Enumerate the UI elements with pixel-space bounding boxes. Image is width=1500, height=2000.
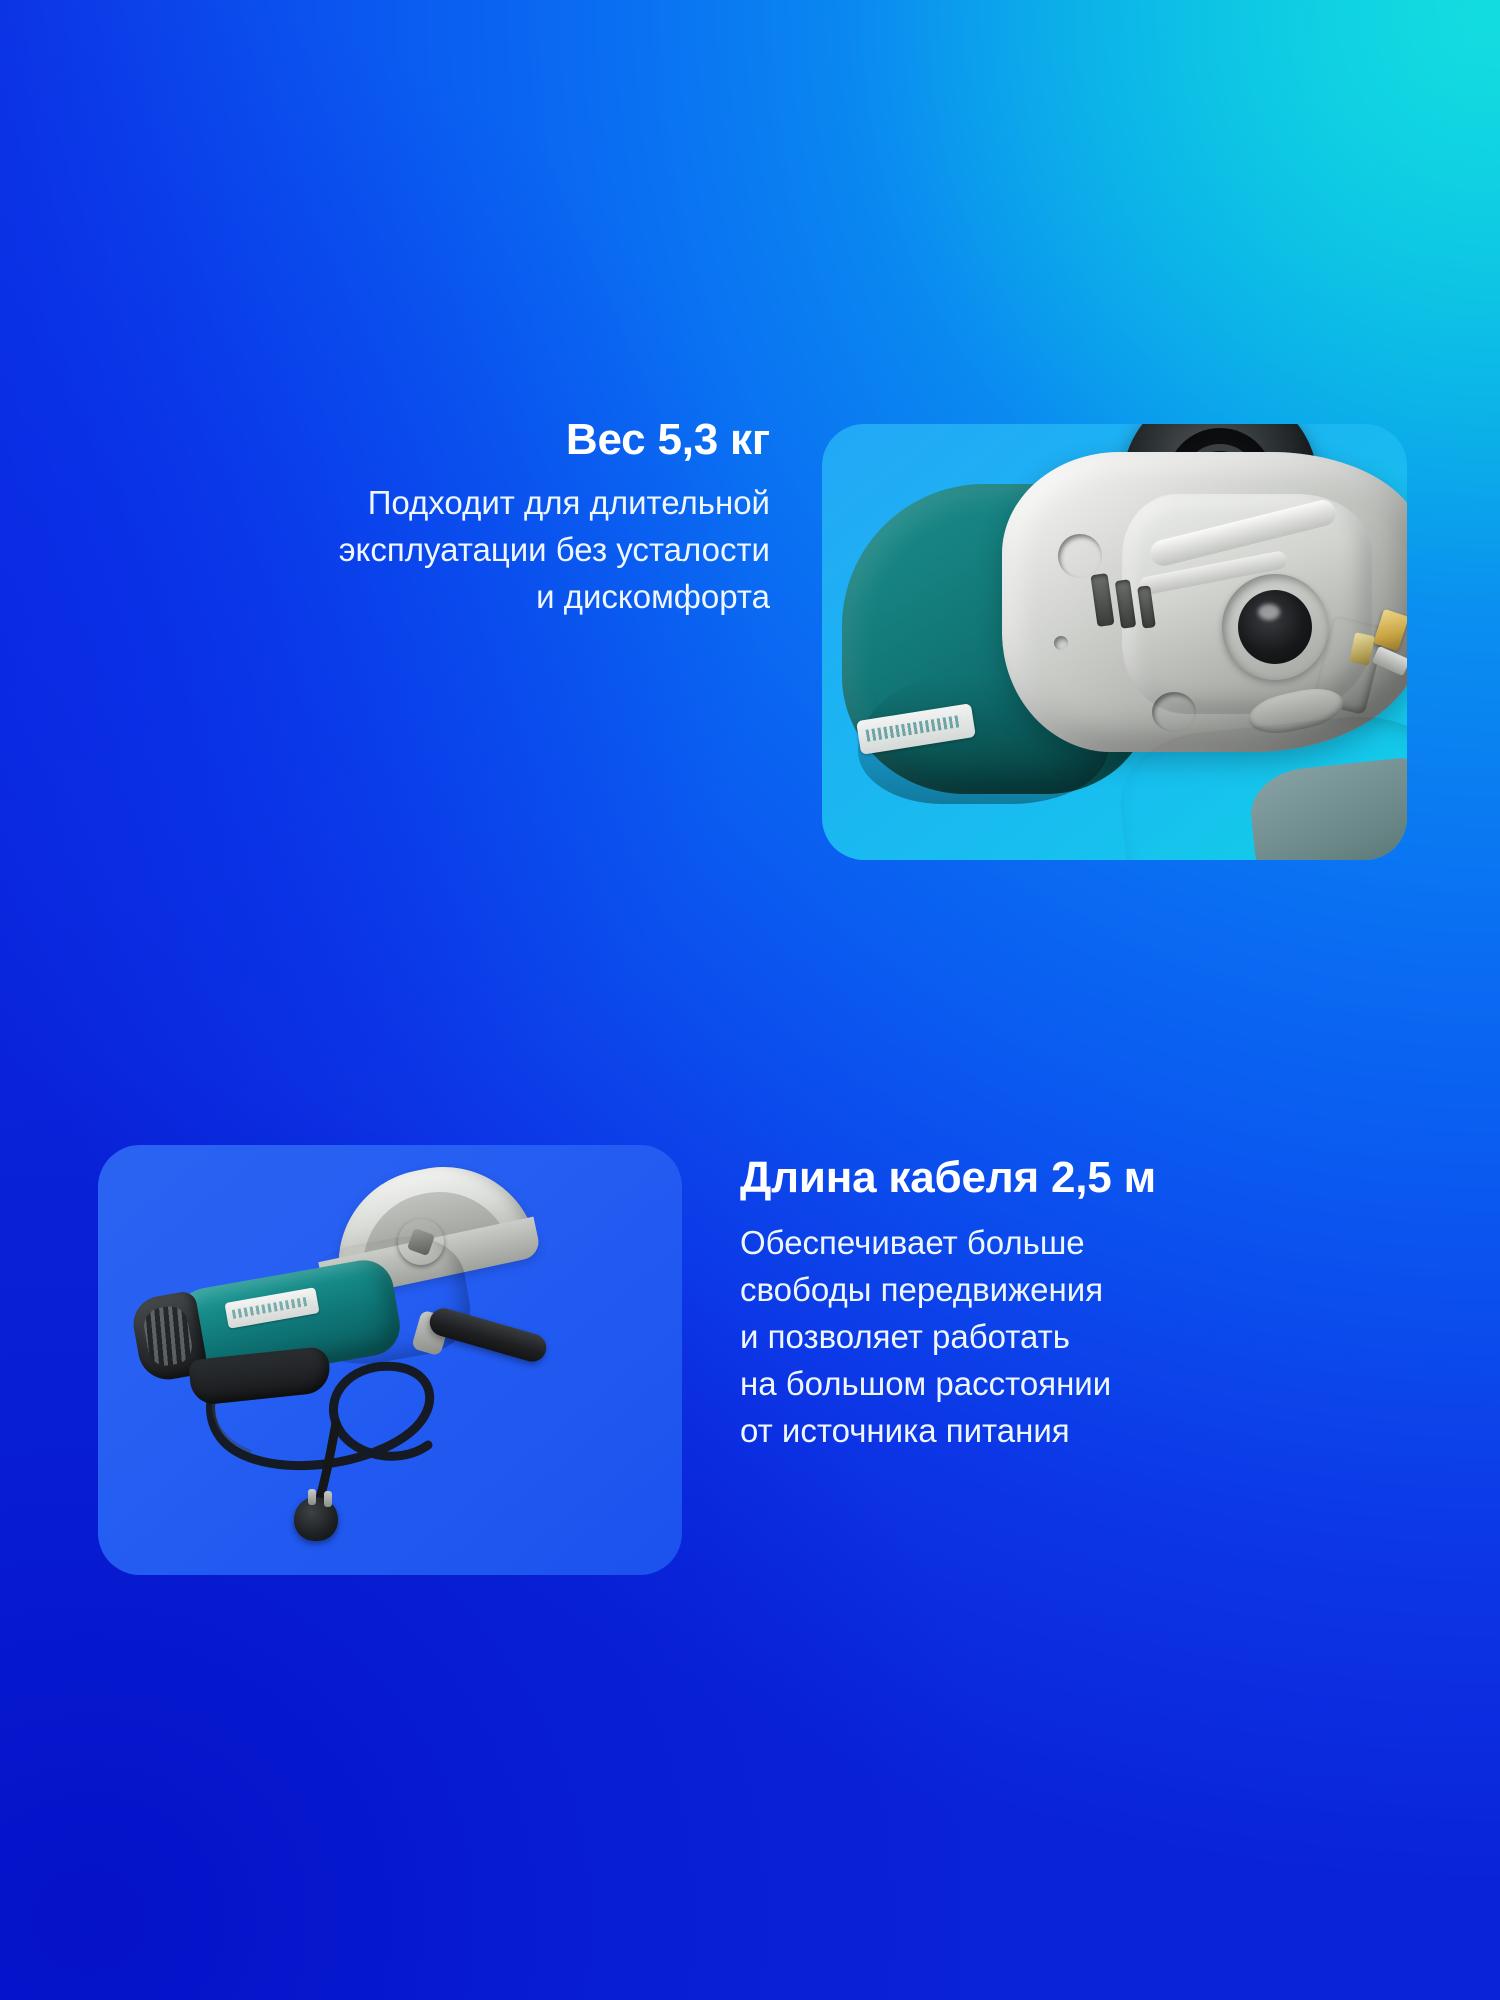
grinder-threaded-hole-1 <box>1058 534 1102 578</box>
feature-cable-body-line-1: Обеспечивает больше <box>740 1220 1440 1267</box>
feature-cable-image-card <box>98 1145 682 1575</box>
feature-weight-body-line-1: Подходит для длительной <box>60 480 770 527</box>
feature-cable-body-line-5: от источника питания <box>740 1408 1440 1455</box>
feature-weight-image-card <box>822 424 1407 860</box>
grinder-threaded-hole-3 <box>1054 636 1068 650</box>
grinder-plug-pin-2 <box>324 1491 332 1507</box>
grinder-plug-pin-1 <box>308 1489 316 1505</box>
feature-weight-body-line-3: и дискомфорта <box>60 574 770 621</box>
angle-grinder-gear-housing-closeup-illustration <box>822 424 1407 860</box>
grinder-spindle-port-highlight <box>1258 604 1280 620</box>
feature-cable-body-line-3: и позволяет работать <box>740 1314 1440 1361</box>
feature-cable-body-line-2: свободы передвижения <box>740 1267 1440 1314</box>
grinder-spindle-port-hole <box>1238 590 1312 664</box>
angle-grinder-full-tool-illustration <box>98 1145 682 1575</box>
feature-weight-headline: Вес 5,3 кг <box>60 415 770 464</box>
feature-weight-body-line-2: эксплуатации без усталости <box>60 527 770 574</box>
feature-cable-headline: Длина кабеля 2,5 м <box>740 1153 1440 1202</box>
feature-cable-body-line-4: на большом расстоянии <box>740 1361 1440 1408</box>
grinder-threaded-hole-2 <box>1152 692 1196 732</box>
feature-cable-text-block: Длина кабеля 2,5 м Обеспечивает больше с… <box>740 1153 1440 1455</box>
background-gradient-overlay <box>0 0 1500 2000</box>
feature-weight-text-block: Вес 5,3 кг Подходит для длительной экспл… <box>60 415 770 621</box>
